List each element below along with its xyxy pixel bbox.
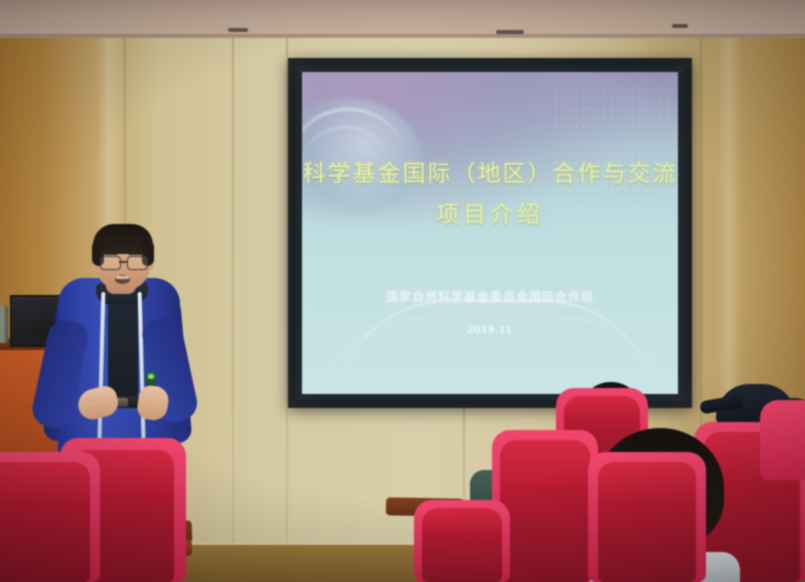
glasses-icon [100,256,121,270]
slide-title-line2: 项目介绍 [302,195,678,229]
speaker-eyebrow-right [128,252,145,255]
ceiling-vent-icon [228,28,248,32]
presentation-slide: 科学基金国际（地区）合作与交流 项目介绍 国家自然科学基金委员会国际合作局 20… [302,72,678,394]
presenter-remote-led [148,374,154,379]
seat-back [0,462,90,582]
slide-organization: 国家自然科学基金委员会国际合作局 [302,288,678,305]
slide-title-line1: 科学基金国际（地区）合作与交流 [302,154,678,188]
water-bottle [0,305,8,343]
seat-back [500,440,590,582]
seat-back [422,508,502,582]
glasses-bridge [119,261,127,263]
glasses-icon [127,256,148,270]
ceiling-vent-icon [672,24,688,28]
speaker-eyebrow-left [101,252,118,255]
seat-back [598,462,696,582]
wall-panel-seam [232,38,234,558]
slide-date: 2019.11 [302,322,678,337]
speaker-shirt-placket [108,292,138,402]
seat-back-rim [760,400,805,480]
ceiling-vent-icon [496,30,524,34]
speaker-teeth [116,276,129,279]
lecture-hall-photo: 科学基金国际（地区）合作与交流 项目介绍 国家自然科学基金委员会国际合作局 20… [0,0,805,582]
